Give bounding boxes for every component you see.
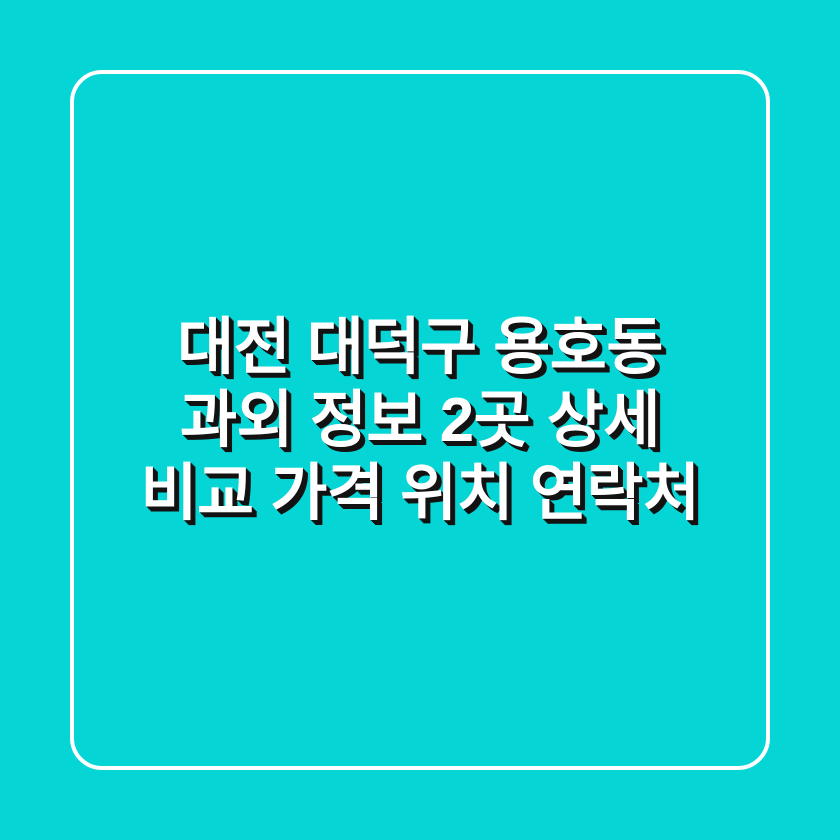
headline-block: 대전 대덕구 용호동 과외 정보 2곳 상세 비교 가격 위치 연락처	[0, 0, 840, 840]
thumbnail-canvas: 대전 대덕구 용호동 과외 정보 2곳 상세 비교 가격 위치 연락처	[0, 0, 840, 840]
headline-line-1: 대전 대덕구 용호동	[90, 311, 750, 384]
headline-line-3: 비교 가격 위치 연락처	[90, 457, 750, 530]
headline-line-2: 과외 정보 2곳 상세	[90, 384, 750, 457]
